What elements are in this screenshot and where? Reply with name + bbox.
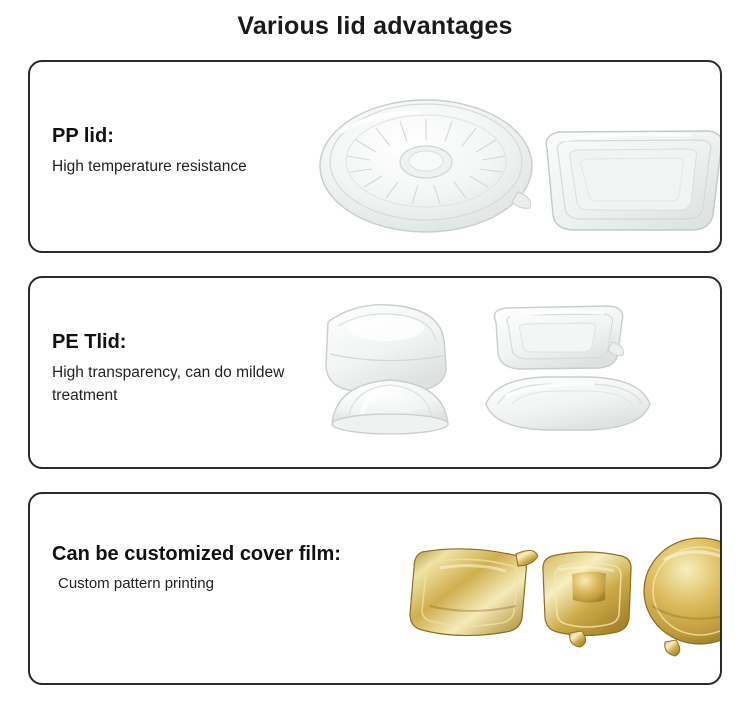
oval-flat-lid bbox=[486, 377, 650, 430]
card-pe-lid: PE Tlid: High transparency, can do milde… bbox=[28, 276, 722, 469]
card-pp-text-block: PP lid: High temperature resistance bbox=[52, 124, 342, 178]
gold-film-square bbox=[543, 552, 631, 647]
card-cover-illustration bbox=[300, 494, 720, 683]
rectangular-lid bbox=[546, 131, 720, 230]
card-pp-subtitle: High temperature resistance bbox=[52, 155, 342, 178]
gold-film-rectangular bbox=[410, 549, 538, 636]
heart-shaped-lid bbox=[326, 305, 446, 391]
page-title: Various lid advantages bbox=[0, 0, 750, 41]
card-pe-heading: PE Tlid: bbox=[52, 330, 342, 355]
card-pe-subtitle: High transparency, can do mildew treatme… bbox=[52, 361, 342, 408]
card-pp-lid: PP lid: High temperature resistance bbox=[28, 60, 722, 253]
round-lid bbox=[320, 100, 532, 232]
page-root: Various lid advantages PP lid: High temp… bbox=[0, 0, 750, 713]
card-cover-heading: Can be customized cover film: bbox=[52, 542, 342, 567]
card-pe-text-block: PE Tlid: High transparency, can do milde… bbox=[52, 330, 342, 408]
card-cover-film: Can be customized cover film: Custom pat… bbox=[28, 492, 722, 685]
gold-cover-films-graphic bbox=[300, 494, 720, 685]
card-pp-illustration bbox=[300, 62, 720, 251]
square-domed-lid bbox=[494, 306, 623, 369]
pp-lids-graphic bbox=[300, 62, 720, 253]
card-cover-subtitle: Custom pattern printing bbox=[52, 573, 342, 596]
pe-lids-graphic bbox=[300, 278, 720, 469]
card-pp-heading: PP lid: bbox=[52, 124, 342, 149]
card-cover-text-block: Can be customized cover film: Custom pat… bbox=[52, 542, 342, 596]
gold-film-round bbox=[644, 538, 720, 656]
card-pe-illustration bbox=[300, 278, 720, 467]
